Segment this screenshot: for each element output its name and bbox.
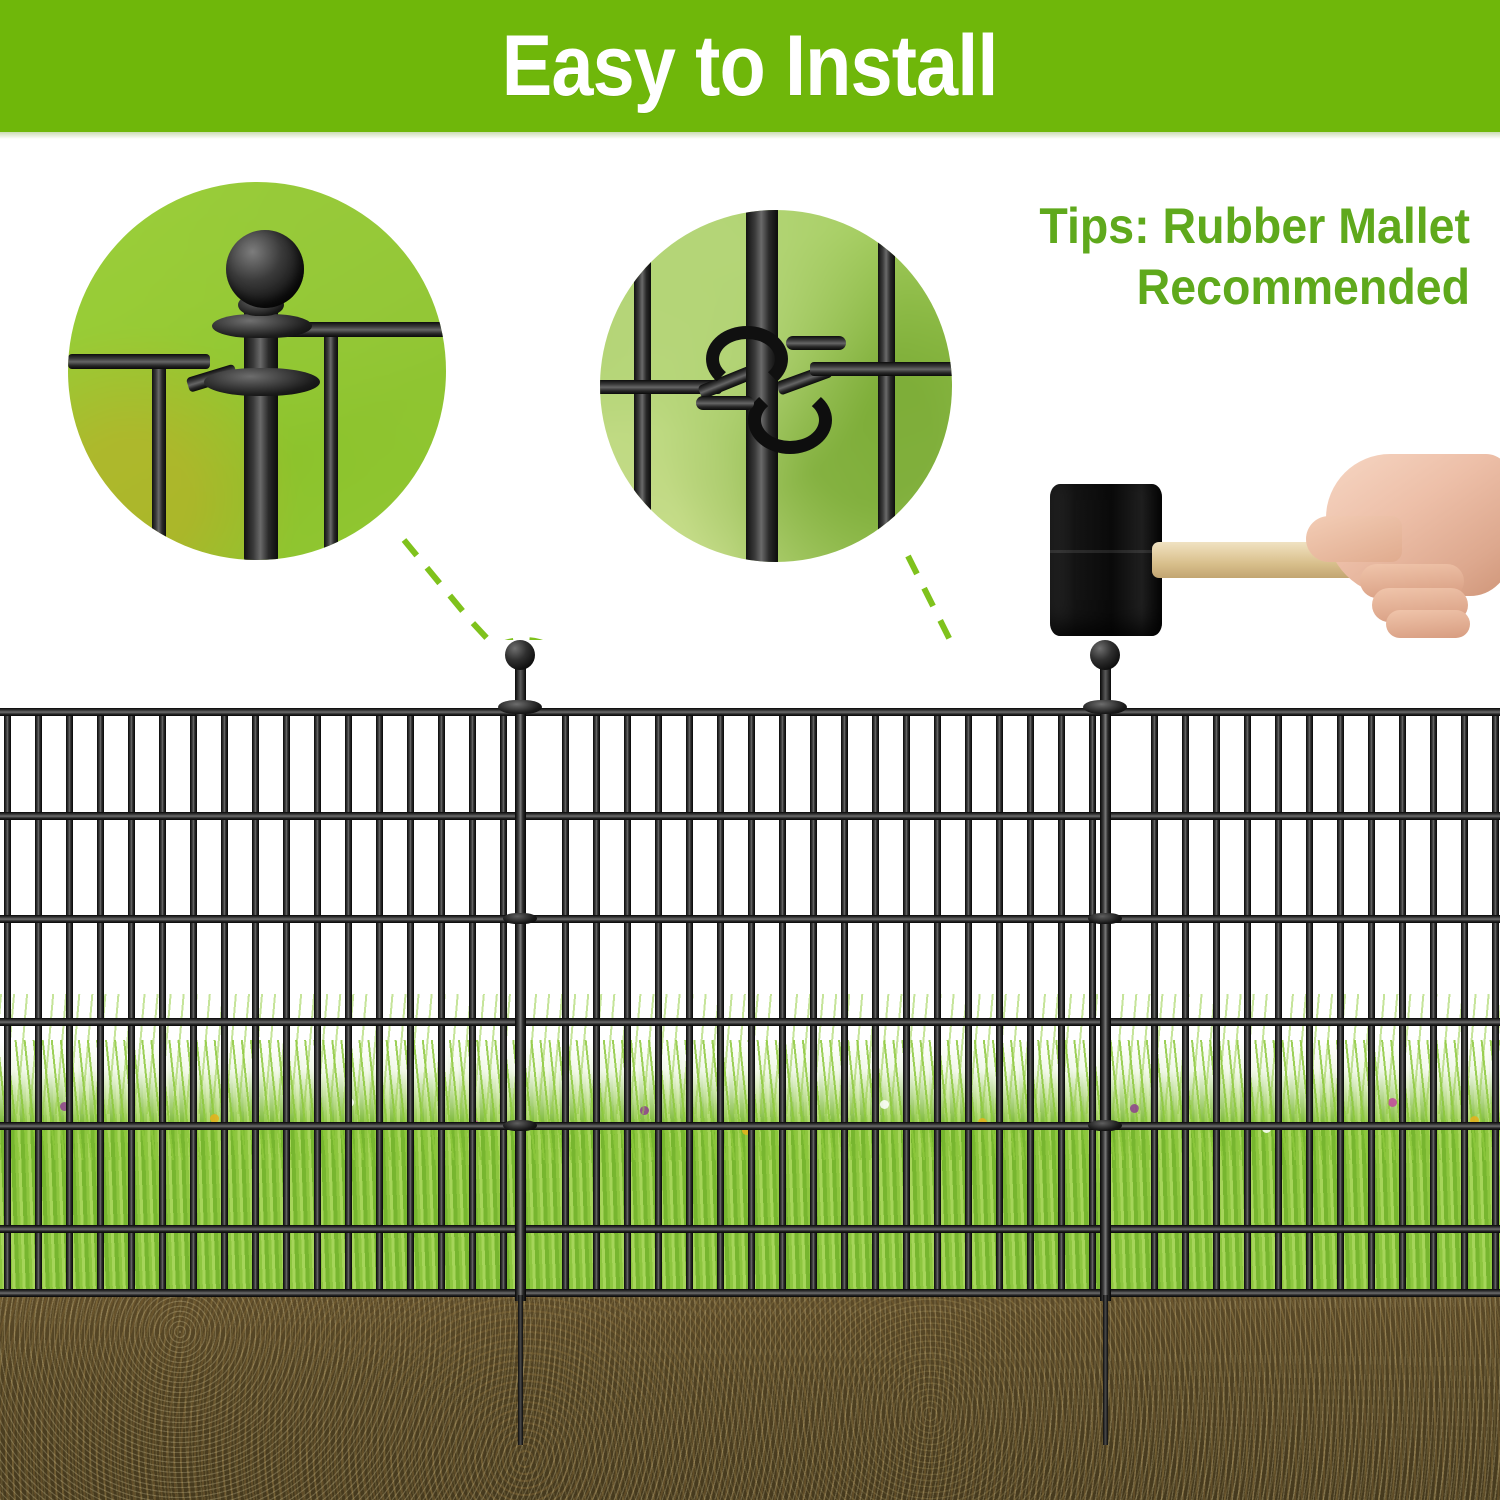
fence-vertical-bar [1492, 708, 1499, 1295]
panel-connector-hook [503, 913, 537, 924]
soil-cross-section [0, 1295, 1500, 1500]
post-cap [498, 700, 542, 714]
fence-vertical-bar [1027, 708, 1034, 1295]
s-hook-icon [748, 386, 832, 454]
fence-post [1100, 704, 1111, 1301]
fence-vertical-bar [152, 360, 166, 560]
fence-horizontal-rail [0, 1018, 1500, 1026]
ground-stake [1103, 1295, 1108, 1445]
fence-horizontal-rail [0, 1225, 1500, 1233]
mallet-head [1050, 484, 1162, 636]
callout-circle-connector [600, 210, 952, 562]
fence-vertical-bar [1151, 708, 1158, 1295]
fence-vertical-bar [1337, 708, 1344, 1295]
fence-vertical-bar [748, 708, 755, 1295]
fence-vertical-bar [1058, 708, 1065, 1295]
banner-shadow [0, 132, 1500, 139]
fence-vertical-bar [624, 708, 631, 1295]
fence-vertical-bar [1306, 708, 1313, 1295]
fence-top-rail [0, 708, 1500, 716]
fence-vertical-bar [1244, 708, 1251, 1295]
fence-vertical-bar [345, 708, 352, 1295]
fence-vertical-bar [324, 324, 338, 560]
fence-scene [0, 640, 1500, 1500]
fence-vertical-bar [469, 708, 476, 1295]
fence-vertical-bar [283, 708, 290, 1295]
fence-vertical-bar [1430, 708, 1437, 1295]
connector-photo [600, 210, 952, 562]
fence-vertical-bar [934, 708, 941, 1295]
fence-vertical-bar [376, 708, 383, 1295]
fence-horizontal-rail [0, 812, 1500, 820]
fence-vertical-bar [810, 708, 817, 1295]
fence-vertical-bar [66, 708, 73, 1295]
fence-vertical-bar [1399, 708, 1406, 1295]
infographic-canvas: Easy to Install Tips: Rubber Mallet Reco… [0, 0, 1500, 1500]
wildflower [640, 1106, 649, 1115]
tips-text: Tips: Rubber Mallet Recommended [996, 196, 1470, 318]
fence-post [244, 300, 278, 560]
fence-vertical-bar [252, 708, 259, 1295]
fence-vertical-bar [841, 708, 848, 1295]
fence-vertical-bar [35, 708, 42, 1295]
finial-photo [68, 182, 446, 560]
ball-finial-icon [226, 230, 304, 308]
ground-stake [518, 1295, 523, 1445]
fence-vertical-bar [407, 708, 414, 1295]
rubber-mallet-illustration [1040, 470, 1500, 660]
fence-vertical-bar [1182, 708, 1189, 1295]
fence-vertical-bar [686, 708, 693, 1295]
fence-vertical-bar [1275, 708, 1282, 1295]
fence-horizontal-rail [68, 354, 210, 369]
fence-vertical-bar [314, 708, 321, 1295]
fence-vertical-bar [996, 708, 1003, 1295]
fence-vertical-bar [655, 708, 662, 1295]
fence-vertical-bar [159, 708, 166, 1295]
wildflower [880, 1100, 889, 1109]
page-title: Easy to Install [502, 23, 998, 109]
fence-vertical-bar [779, 708, 786, 1295]
fence-vertical-bar [438, 708, 445, 1295]
tips-line-1: Tips: Rubber Mallet [1039, 198, 1470, 254]
fence-vertical-bar [4, 708, 11, 1295]
post-collar-lower [204, 368, 320, 396]
panel-connector-hook [503, 1120, 537, 1131]
fence-vertical-bar [1368, 708, 1375, 1295]
thumb [1306, 516, 1402, 562]
s-hook-icon [706, 326, 788, 392]
post-collar-upper [212, 314, 312, 338]
fence-vertical-bar [1461, 708, 1468, 1295]
fence-vertical-bar [965, 708, 972, 1295]
fence-vertical-bar [593, 708, 600, 1295]
fence-vertical-bar [221, 708, 228, 1295]
header-banner: Easy to Install [0, 0, 1500, 132]
fence-bottom-rail [0, 1289, 1500, 1297]
wildflower [1388, 1098, 1397, 1107]
fence-vertical-bar [872, 708, 879, 1295]
fence-vertical-bar [1089, 708, 1096, 1295]
fence-vertical-bar [128, 708, 135, 1295]
fence-post [515, 704, 526, 1301]
callout-circle-finial [68, 182, 446, 560]
hook-end-stub [786, 336, 846, 350]
finger [1386, 610, 1470, 638]
tips-line-2: Recommended [996, 257, 1470, 318]
fence-vertical-bar [562, 708, 569, 1295]
ball-finial-icon [505, 640, 535, 670]
post-cap [1083, 700, 1127, 714]
fence-vertical-bar [878, 236, 895, 536]
hand-holding-mallet [1298, 444, 1500, 644]
fence-vertical-bar [903, 708, 910, 1295]
fence-vertical-bar [1213, 708, 1220, 1295]
ball-finial-icon [1090, 640, 1120, 670]
fence-vertical-bar [97, 708, 104, 1295]
hook-end-stub [696, 396, 754, 410]
fence-vertical-bar [190, 708, 197, 1295]
fence-horizontal-rail [0, 915, 1500, 923]
panel-connector-hook [1088, 1120, 1122, 1131]
fence-vertical-bar [717, 708, 724, 1295]
panel-connector-hook [1088, 913, 1122, 924]
fence-vertical-bar [500, 708, 507, 1295]
wildflower [1130, 1104, 1139, 1113]
fence-horizontal-rail [0, 1122, 1500, 1130]
fence-horizontal-rail [810, 362, 952, 376]
